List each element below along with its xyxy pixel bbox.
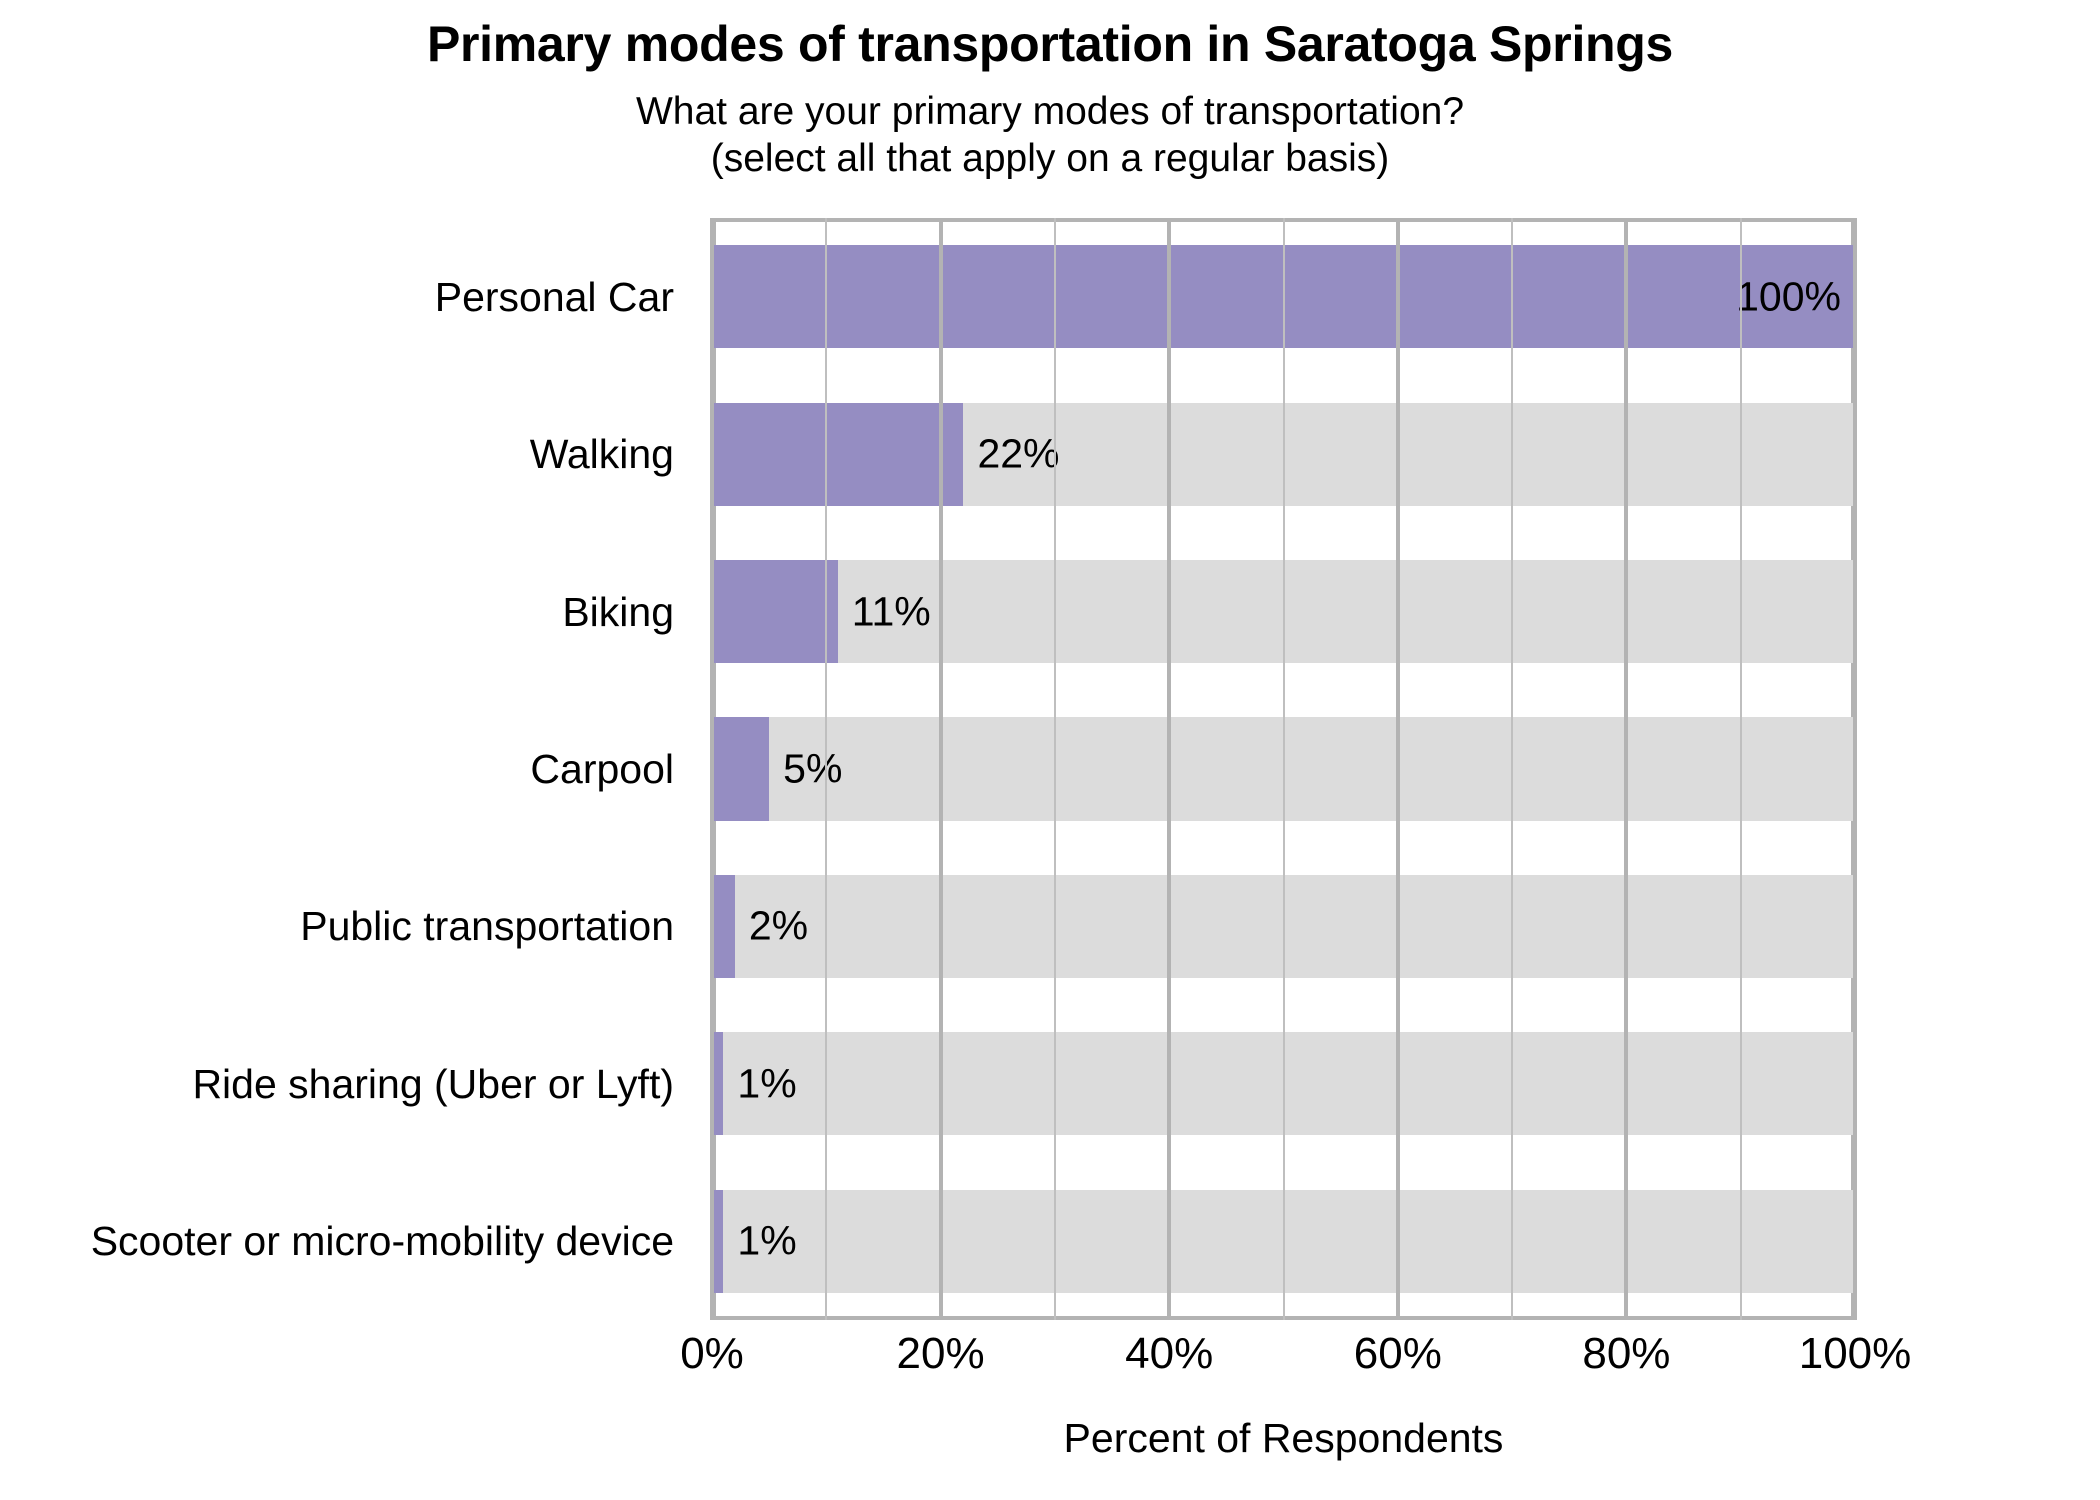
- bar-value-label: 5%: [783, 748, 842, 789]
- bar[interactable]: [712, 560, 838, 663]
- y-axis-label-carpool: Carpool: [530, 749, 674, 790]
- x-tick-label: 0%: [680, 1332, 744, 1376]
- bar-track: [712, 1032, 1855, 1135]
- chart-subtitle: What are your primary modes of transport…: [0, 88, 2100, 183]
- chart-subtitle-line-1: What are your primary modes of transport…: [0, 88, 2100, 136]
- bar[interactable]: [712, 1190, 723, 1293]
- bar-row: 100%: [712, 245, 1855, 348]
- bar-value-label: 11%: [852, 591, 931, 632]
- bar-row: 11%: [712, 560, 1855, 663]
- y-axis-label-personal-car: Personal Car: [435, 277, 674, 318]
- y-axis-label-ride-sharing-uber-or-lyft: Ride sharing (Uber or Lyft): [192, 1064, 674, 1105]
- bar[interactable]: [712, 875, 735, 978]
- x-axis-tick-labels: 0%20%40%60%80%100%: [712, 1332, 1855, 1392]
- x-tick-label: 100%: [1799, 1332, 1912, 1376]
- chart-header: Primary modes of transportation in Sarat…: [0, 0, 2100, 183]
- bar-row: 2%: [712, 875, 1855, 978]
- bar-value-label: 100%: [1736, 276, 1841, 317]
- bar-value-label: 1%: [737, 1221, 796, 1262]
- chart-title: Primary modes of transportation in Sarat…: [0, 18, 2100, 71]
- y-axis-label-scooter-or-micro-mobility-device: Scooter or micro-mobility device: [91, 1221, 674, 1262]
- x-tick-label: 40%: [1125, 1332, 1213, 1376]
- bar-track: [712, 717, 1855, 820]
- bar-value-label: 1%: [737, 1063, 796, 1104]
- bar-track: [712, 875, 1855, 978]
- chart-plot-area: 100%22%11%5%2%1%1%: [712, 218, 1855, 1320]
- x-tick-label: 60%: [1354, 1332, 1442, 1376]
- bar[interactable]: [712, 717, 769, 820]
- bar-rows: 100%22%11%5%2%1%1%: [712, 218, 1855, 1320]
- bar-value-label: 22%: [977, 434, 1059, 475]
- x-tick-label: 20%: [897, 1332, 985, 1376]
- y-axis-label-public-transportation: Public transportation: [300, 906, 674, 947]
- bar-row: 5%: [712, 717, 1855, 820]
- bar[interactable]: [712, 1032, 723, 1135]
- x-tick-label: 80%: [1582, 1332, 1670, 1376]
- bar-row: 1%: [712, 1190, 1855, 1293]
- bar-row: 1%: [712, 1032, 1855, 1135]
- bar[interactable]: [712, 403, 963, 506]
- bar-row: 22%: [712, 403, 1855, 506]
- bar-value-label: 2%: [749, 906, 808, 947]
- y-axis-category-labels: Personal CarWalkingBikingCarpoolPublic t…: [0, 218, 692, 1320]
- bar-track: [712, 1190, 1855, 1293]
- y-axis-label-walking: Walking: [530, 434, 674, 475]
- chart-subtitle-line-2: (select all that apply on a regular basi…: [0, 135, 2100, 183]
- x-axis-title: Percent of Respondents: [712, 1415, 1855, 1462]
- y-axis-label-biking: Biking: [562, 592, 674, 633]
- bar[interactable]: 100%: [712, 245, 1855, 348]
